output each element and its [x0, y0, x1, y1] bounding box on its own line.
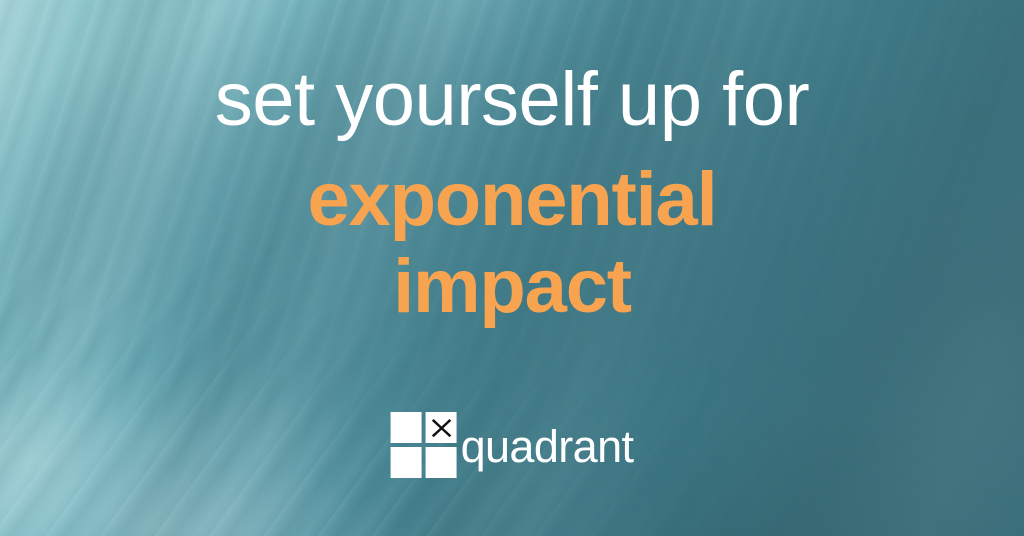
quadrant-wordmark: quadrant: [461, 424, 634, 469]
logo-cell-bottom-left: [391, 447, 422, 478]
marketing-banner: set yourself up for exponential impact q…: [0, 0, 1024, 536]
x-icon: [430, 417, 452, 439]
logo-cell-top-right: [426, 412, 457, 443]
quadrant-grid-mark-icon: [391, 412, 457, 478]
logo-cell-bottom-right: [426, 447, 457, 478]
quadrant-logo-lockup: quadrant: [391, 412, 634, 478]
headline-line-3-accent: impact: [393, 247, 631, 328]
headline-line-1: set yourself up for: [215, 62, 810, 138]
logo-cell-top-left: [391, 412, 422, 443]
headline-line-2-accent: exponential: [307, 160, 716, 241]
